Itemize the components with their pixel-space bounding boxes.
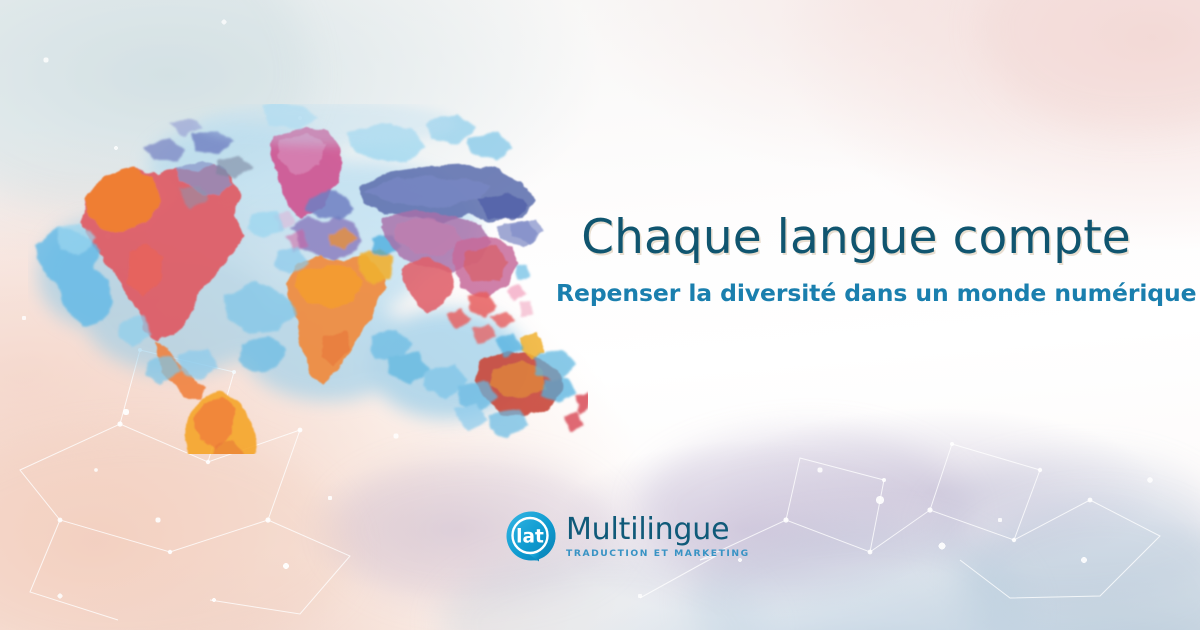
logo-wordmark: Multilingue TRADUCTION ET MARKETING bbox=[566, 513, 750, 558]
headline-block: Chaque langue compte Repenser la diversi… bbox=[556, 212, 1156, 307]
logo-mark-text: lat bbox=[516, 527, 544, 548]
blob-blush-top-right bbox=[980, 0, 1200, 130]
blob-blush-lower-left bbox=[0, 430, 350, 630]
logo-tagline: TRADUCTION ET MARKETING bbox=[566, 549, 750, 558]
brand-logo[interactable]: lat Multilingue TRADUCTION ET MARKETING bbox=[505, 510, 750, 562]
blob-steel-right bbox=[960, 500, 1200, 630]
watercolor-world-map bbox=[28, 104, 588, 454]
page-title: Chaque langue compte bbox=[556, 212, 1156, 265]
region-south-america bbox=[186, 392, 256, 454]
blob-steel-low bbox=[440, 550, 770, 630]
page-subtitle: Repenser la diversité dans un monde numé… bbox=[556, 279, 1156, 307]
logo-name: Multilingue bbox=[566, 515, 750, 545]
region-polar-ice bbox=[198, 104, 458, 146]
social-banner: Chaque langue compte Repenser la diversi… bbox=[0, 0, 1200, 630]
blob-lavender-right bbox=[930, 455, 1200, 605]
speech-bubble-icon: lat bbox=[505, 510, 557, 562]
